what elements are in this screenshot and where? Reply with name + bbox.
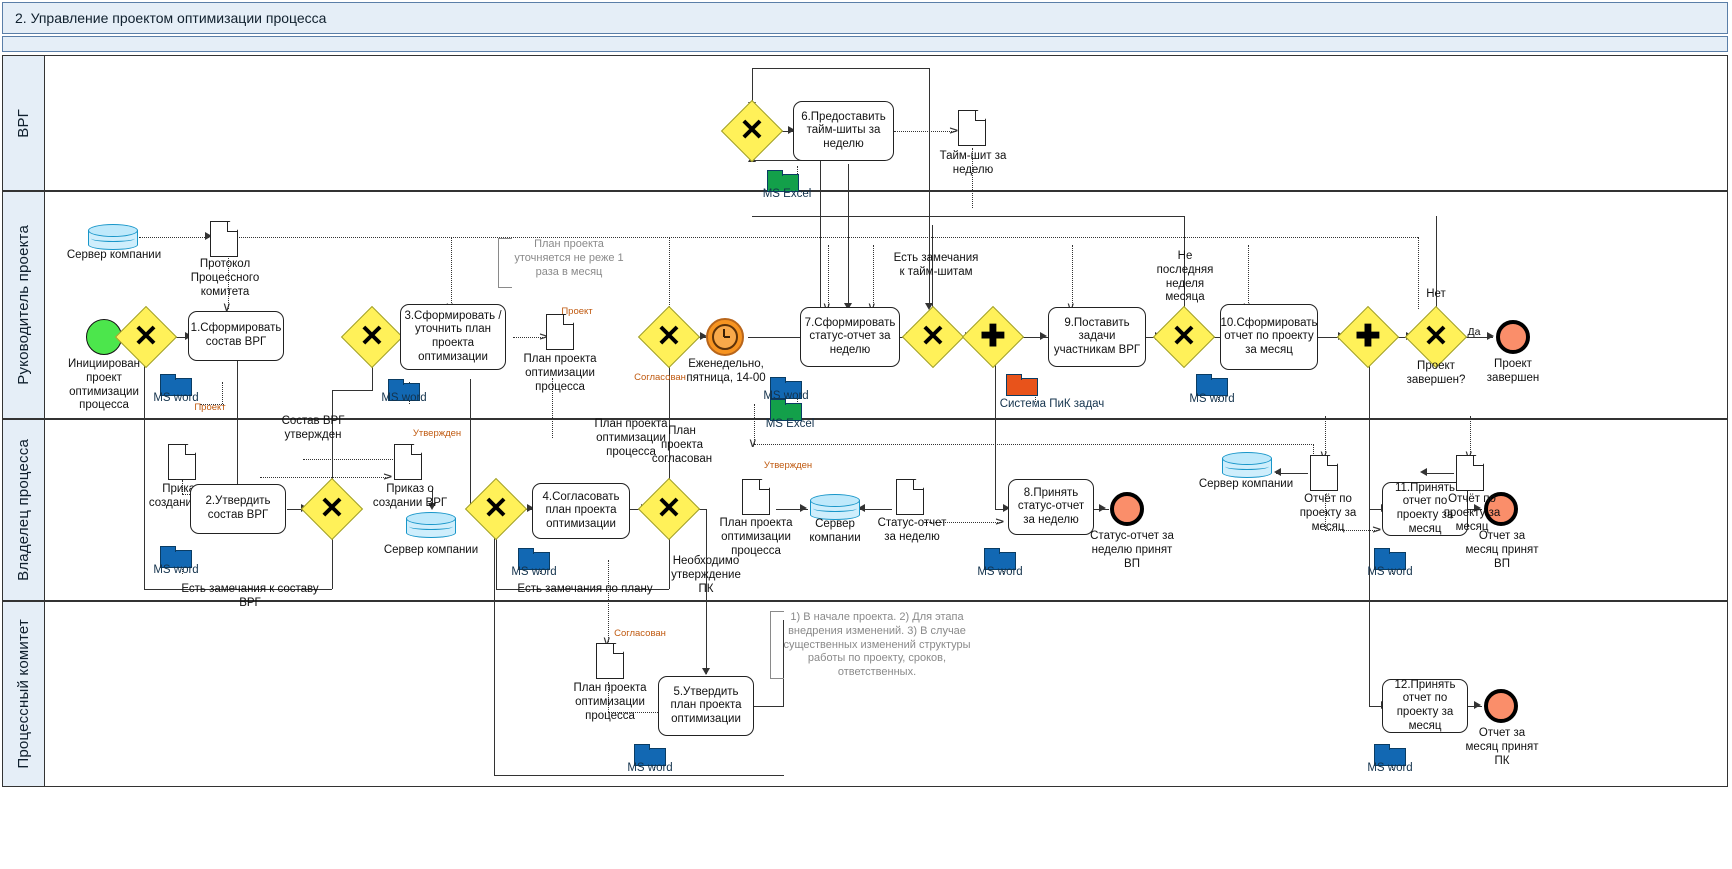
arrow (1474, 701, 1481, 709)
flow-label-yes: Да (1462, 326, 1486, 339)
gateway-plan-merge[interactable]: ✕ (350, 315, 394, 359)
gateway-exclusive-icon: ✕ (350, 315, 394, 359)
task-3-label: 3.Сформировать /уточнить план проекта оп… (404, 310, 502, 364)
gateway-timesheet-check[interactable]: ✕ (911, 315, 955, 359)
task-9-label: 9.Поставить задачи участникам ВРГ (1052, 317, 1142, 358)
gateway-last-week-check[interactable]: ✕ (1162, 315, 1206, 359)
sys-word-2-label: MS word (374, 392, 434, 406)
flow-task6-down (848, 164, 849, 308)
flow-label-plan-remarks: Есть замечания по плану (510, 583, 660, 597)
end-event-status-report-label: Статус-отчет за неделю принят ВП (1088, 530, 1176, 571)
ds-4-label: Сервер компании (1196, 478, 1296, 492)
clock-icon (712, 324, 738, 350)
doc-plan-agreed-2-state: Согласован (612, 628, 668, 639)
gateway-parallel-icon: ✚ (1346, 315, 1390, 359)
gateway-exclusive-icon: ✕ (124, 315, 168, 359)
flow-not-last-week-left (752, 216, 1184, 217)
task-10[interactable]: 10.Сформировать отчет по проекту за меся… (1220, 304, 1318, 370)
doc-order-vrg-2-icon (394, 444, 422, 480)
end-event-status-report[interactable] (1110, 492, 1144, 526)
gateway-exclusive-icon: ✕ (474, 487, 518, 531)
gateway-plan-check[interactable]: ✕ (474, 487, 518, 531)
doc-plan-draft-state: Проект (552, 306, 602, 317)
task-2-label: 2.Утвердить состав ВРГ (194, 495, 282, 522)
gateway-exclusive-icon: ✕ (1162, 315, 1206, 359)
assoc-task2-order2 (260, 477, 388, 478)
gateway-vrg-check[interactable]: ✕ (310, 487, 354, 531)
doc-plan-approved-label: План проекта оптимизации процесса (708, 517, 804, 558)
assoc-plan-pk-down (608, 560, 609, 642)
sys-word-9-label: MS word (620, 762, 680, 776)
doc-status-report-label: Статус-отчет за неделю (874, 517, 950, 545)
note-plan-monthly: План проекта уточняется не реже 1 раза в… (506, 238, 632, 279)
gateway-exclusive-icon: ✕ (730, 109, 774, 153)
assoc-lane3-h1 (303, 459, 393, 460)
doc-plan-draft-icon (546, 314, 574, 350)
gateway-exclusive-icon: ✕ (310, 487, 354, 531)
assoc-protocol-right (228, 237, 1418, 238)
gateway-exclusive-icon: ✕ (911, 315, 955, 359)
sys-word-7-label: MS word (970, 566, 1030, 580)
open-arrow: ∨ (1369, 525, 1382, 535)
arrow (800, 504, 807, 512)
note-pk-cases: 1) В начале проекта. 2) Для этапа внедре… (778, 611, 976, 680)
end-event-project[interactable] (1496, 320, 1530, 354)
lane-process-owner-header: Владелец процесса (3, 420, 45, 600)
flow-task5-loop-left (494, 620, 495, 775)
open-arrow: ∨ (380, 472, 393, 482)
doc-protocol-label: Протокол Процессного комитета (172, 258, 278, 299)
gateway-exclusive-icon: ✕ (1414, 315, 1458, 359)
doc-order-vrg-1-icon (168, 444, 196, 480)
pool-title-text: 2. Управление проектом оптимизации проце… (15, 10, 326, 26)
flow-label-plan-agreed: План проекта согласован (650, 425, 714, 466)
task-2[interactable]: 2.Утвердить состав ВРГ (190, 484, 286, 534)
lane-process-owner-label: Владелец процесса (15, 439, 32, 581)
lane-project-manager-label: Руководитель проекта (15, 225, 32, 385)
flow-gwg-down-pk (1369, 509, 1370, 706)
gateway-weekly-merge[interactable]: ✕ (647, 315, 691, 359)
arrow (702, 668, 710, 675)
flow-task5-right (753, 706, 784, 707)
flow-task1-down (237, 360, 238, 500)
end-event-month-report-pk-label: Отчет за месяц принят ПК (1462, 727, 1542, 768)
gateway-vrg-merge[interactable]: ✕ (124, 315, 168, 359)
doc-order-vrg-2-label: Приказ о создании ВРГ (368, 483, 452, 511)
task-10-label: 10.Сформировать отчет по проекту за меся… (1220, 317, 1317, 358)
ds-1-label: Сервер компании (66, 249, 162, 263)
task-9[interactable]: 9.Поставить задачи участникам ВРГ (1048, 307, 1146, 367)
flow-gwa-right (332, 390, 372, 391)
timer-event-label: Еженедельно, пятница, 14-00 (676, 358, 776, 386)
sys-pik-icon (1006, 374, 1038, 396)
sys-word-4-label: MS word (1182, 393, 1242, 407)
sys-excel-1-label: MS Excel (757, 188, 817, 202)
doc-timesheet-icon (958, 110, 986, 146)
sys-excel-2-label: MS Excel (760, 418, 820, 432)
task-3[interactable]: 3.Сформировать /уточнить план проекта оп… (400, 304, 506, 370)
flow-loop-top (752, 68, 930, 69)
assoc-task1-word (222, 382, 223, 404)
lane-project-manager-header: Руководитель проекта (3, 192, 45, 418)
doc-month-report-2-icon (1456, 455, 1484, 491)
doc-protocol-icon (210, 221, 238, 257)
open-arrow: ∨ (946, 126, 959, 136)
gateway-parallel-split[interactable]: ✚ (971, 315, 1015, 359)
gateway-parallel-icon: ✚ (971, 315, 1015, 359)
doc-plan-approved-icon (742, 479, 770, 515)
flow-task5-loop-up (494, 531, 495, 620)
task-12-label: 12.Принять отчет по проекту за месяц (1386, 679, 1464, 733)
task-12[interactable]: 12.Принять отчет по проекту за месяц (1382, 679, 1468, 733)
pool-subheader-strip (2, 36, 1728, 52)
sys-word-6-label: MS word (504, 566, 564, 580)
gateway-project-done[interactable]: ✕ (1414, 315, 1458, 359)
doc-order-vrg-2-state: Утвержден (412, 428, 462, 439)
doc-plan-agreed-2-label: План проекта оптимизации процесса (562, 682, 658, 723)
task-5-label: 5.Утвердить план проекта оптимизации (662, 686, 750, 727)
lane-project-manager: Руководитель проекта (2, 191, 1728, 419)
open-arrow: ∨ (748, 436, 758, 449)
arrow (1274, 468, 1281, 476)
arrow (1487, 332, 1494, 340)
arrow (1099, 504, 1106, 512)
gateway-plan-agreed[interactable]: ✕ (647, 487, 691, 531)
flow-label-no: Нет (1414, 288, 1458, 302)
ds-3-label: Сервер компании (800, 518, 870, 546)
lane-process-committee-label: Процессный комитет (15, 619, 32, 769)
task-8[interactable]: 8.Принять статус-отчет за неделю (1008, 479, 1094, 535)
task-7-label: 7.Сформировать статус-отчет за неделю (804, 317, 896, 358)
doc-month-report-1-label: Отчёт по проекту за месяц (1296, 493, 1360, 534)
open-arrow: ∨ (992, 517, 1005, 527)
sys-pik-label: Система ПиК задач (997, 398, 1107, 412)
task-4-label: 4.Согласовать план проекта оптимизации (536, 491, 626, 532)
doc-plan-approved-state: Утвержден (760, 460, 816, 471)
lane-process-committee-header: Процессный комитет (3, 602, 45, 786)
doc-month-report-1-icon (1310, 455, 1338, 491)
task-7[interactable]: 7.Сформировать статус-отчет за неделю (800, 307, 900, 367)
sys-word-5-label: MS word (146, 564, 206, 578)
task-6-label: 6.Предоставить тайм-шиты за неделю (797, 111, 890, 152)
ds-2-icon (406, 512, 456, 542)
gateway-exclusive-icon: ✕ (647, 315, 691, 359)
flow-label-pk-approval: Необходимо утверждение ПК (668, 555, 744, 596)
lane-vrg-label: ВРГ (15, 109, 32, 138)
task-8-label: 8.Принять статус-отчет за неделю (1012, 487, 1090, 528)
flow-label-vrg-remarks: Есть замечания к составу ВРГ (170, 583, 330, 611)
bpmn-diagram: 2. Управление проектом оптимизации проце… (0, 0, 1732, 869)
flow-label-timesheet-remarks: Есть замечания к тайм-шитам (890, 252, 982, 280)
arrow (1040, 332, 1047, 340)
end-event-project-label: Проект завершен (1474, 358, 1552, 386)
flow-label-not-last-week: Не последняя неделя месяца (1148, 250, 1222, 305)
sys-word-10-label: MS word (1360, 762, 1420, 776)
ds-2-label: Сервер компании (382, 544, 480, 558)
flow-label-vrg-approved: Состав ВРГ утвержден (268, 415, 358, 443)
flow-report2-left (1424, 473, 1454, 474)
doc-status-report-icon (896, 479, 924, 515)
flow-gwg-down (1369, 359, 1370, 509)
assoc-lane3-h2 (754, 444, 1314, 445)
gateway-timesheet-merge[interactable]: ✕ (730, 109, 774, 153)
flow-gwe-down (995, 359, 996, 509)
assoc-ds1-doc (139, 237, 209, 238)
doc-month-report-2-label: Отчёт по проекту за месяц (1440, 493, 1504, 534)
gateway-exclusive-icon: ✕ (647, 487, 691, 531)
task-5[interactable]: 5.Утвердить план проекта оптимизации (658, 676, 754, 736)
task-1[interactable]: 1.Сформировать состав ВРГ (188, 311, 284, 361)
end-event-month-report-pk[interactable] (1484, 689, 1518, 723)
doc-order-vrg-1-state: Проект (190, 402, 230, 413)
timer-event[interactable] (706, 318, 744, 356)
assoc-down-gwc (669, 237, 670, 309)
pool-title: 2. Управление проектом оптимизации проце… (2, 2, 1728, 34)
flow-task3-down (470, 379, 471, 505)
task-6[interactable]: 6.Предоставить тайм-шиты за неделю (793, 101, 894, 161)
end-event-month-report-vp-label: Отчет за месяц принят ВП (1462, 530, 1542, 571)
start-event-label: Инициирован проект оптимизации процесса (56, 358, 152, 413)
doc-plan-agreed-2-icon (596, 643, 624, 679)
arrow (1420, 468, 1427, 476)
task-4[interactable]: 4.Согласовать план проекта оптимизации (532, 483, 630, 539)
task-1-label: 1.Сформировать состав ВРГ (191, 322, 282, 349)
doc-timesheet-label: Тайм-шит за неделю (930, 150, 1016, 178)
doc-plan-draft-label: План проекта оптимизации процесса (510, 353, 610, 394)
sys-word-8-label: MS word (1360, 566, 1420, 580)
gateway-project-done-label: Проект завершен? (1404, 360, 1468, 388)
lane-vrg-header: ВРГ (3, 56, 45, 190)
gateway-parallel-join[interactable]: ✚ (1346, 315, 1390, 359)
